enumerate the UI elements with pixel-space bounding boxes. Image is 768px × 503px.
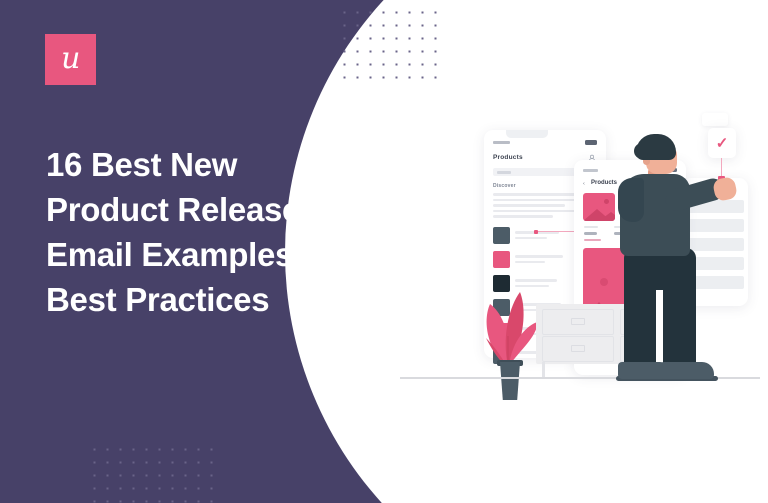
headline-line-1: 16 Best New — [46, 142, 376, 187]
person-shoe — [660, 362, 714, 379]
page-canvas: u 16 Best New Product Release Email Exam… — [0, 0, 768, 503]
person-illustration — [610, 130, 728, 395]
page-title: 16 Best New Product Release Email Exampl… — [46, 142, 376, 322]
dot-grid-bottom — [88, 443, 218, 503]
ghost-card — [702, 113, 728, 126]
logo-letter: u — [61, 44, 80, 74]
back-icon[interactable]: ‹ — [583, 181, 585, 187]
list-item-swatch — [493, 251, 510, 268]
list-item-text — [515, 255, 563, 258]
phone-notch — [506, 130, 548, 138]
dresser-leg — [542, 362, 545, 377]
dot-grid-top — [338, 6, 440, 84]
stat-label — [584, 226, 598, 228]
product-release-illustration: ✓ Products Discover — [460, 100, 760, 400]
drawer-handle — [571, 345, 585, 352]
search-placeholder — [497, 171, 511, 174]
list-item-text — [515, 261, 545, 264]
list-item-text — [515, 237, 547, 240]
person-hair-side — [634, 143, 648, 159]
potted-plant — [478, 278, 540, 400]
headline-line-4: Best Practices — [46, 277, 376, 322]
userpilot-logo[interactable]: u — [45, 34, 96, 85]
hoodie-hood — [618, 178, 644, 222]
list-item-swatch — [493, 227, 510, 244]
leg-gap — [656, 290, 663, 370]
headline-line-2: Product Release — [46, 187, 376, 232]
vase — [500, 362, 520, 400]
battery-icon — [585, 140, 597, 145]
text-line — [493, 204, 565, 207]
status-time — [583, 169, 598, 172]
headline-line-3: Email Examples + — [46, 232, 376, 277]
rating-stars — [584, 239, 601, 241]
status-time — [493, 141, 510, 144]
text-line — [493, 193, 581, 196]
drawer-handle — [571, 318, 585, 325]
text-line — [493, 210, 583, 213]
text-line — [493, 215, 553, 218]
section-label: Discover — [493, 183, 516, 189]
stat-value — [584, 232, 597, 235]
connector-node — [534, 230, 538, 234]
phone-title: Products — [493, 154, 523, 161]
